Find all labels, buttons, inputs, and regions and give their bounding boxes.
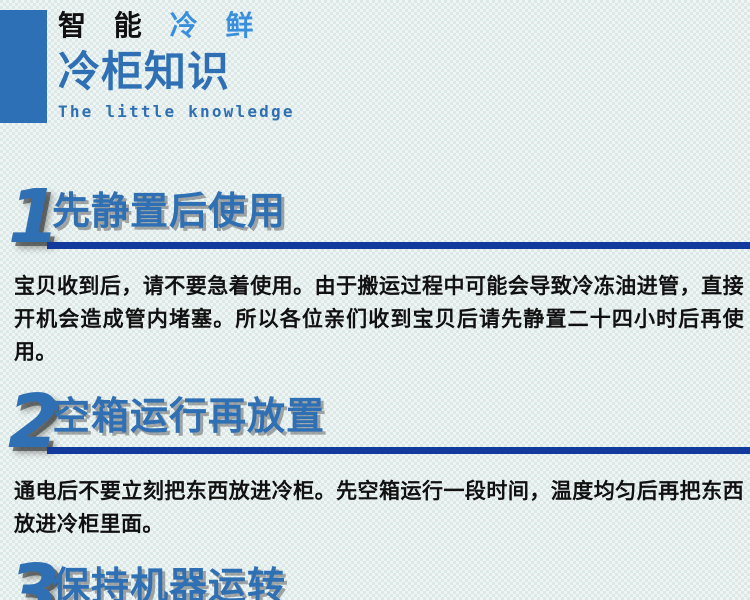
kicker-black-text: 智 能 <box>58 10 152 41</box>
tip-header: 3 保持机器运转 <box>0 557 750 600</box>
tip-title: 保持机器运转 <box>52 563 286 600</box>
tip-body: 通电后不要立刻把东西放进冷柜。先空箱运行一段时间，温度均匀后再把东西放进冷柜里面… <box>0 461 750 541</box>
tip-section: 2 空箱运行再放置 通电后不要立刻把东西放进冷柜。先空箱运行一段时间，温度均匀后… <box>0 387 750 541</box>
tip-body: 宝贝收到后，请不要急着使用。由于搬运过程中可能会导致冷冻油进管，直接开机会造成管… <box>0 256 750 369</box>
header-kicker: 智 能 冷 鲜 <box>58 6 698 46</box>
header-text-block: 智 能 冷 鲜 冷柜知识 The little knowledge <box>58 6 698 121</box>
page-subtitle: The little knowledge <box>58 102 698 121</box>
tip-title: 先静置后使用 <box>52 188 286 236</box>
tip-title: 空箱运行再放置 <box>52 393 325 441</box>
tip-header: 2 空箱运行再放置 <box>0 387 750 461</box>
tip-section: 1 先静置后使用 宝贝收到后，请不要急着使用。由于搬运过程中可能会导致冷冻油进管… <box>0 182 750 369</box>
page-header: 智 能 冷 鲜 冷柜知识 The little knowledge <box>0 0 750 140</box>
page-title: 冷柜知识 <box>58 48 698 96</box>
kicker-blue-text: 冷 鲜 <box>170 10 264 41</box>
tip-number: 3 <box>8 555 58 600</box>
tip-section: 3 保持机器运转 <box>0 557 750 600</box>
tip-divider <box>47 242 750 249</box>
tip-divider <box>47 447 750 454</box>
header-accent-bar <box>0 10 47 123</box>
tip-header: 1 先静置后使用 <box>0 182 750 256</box>
